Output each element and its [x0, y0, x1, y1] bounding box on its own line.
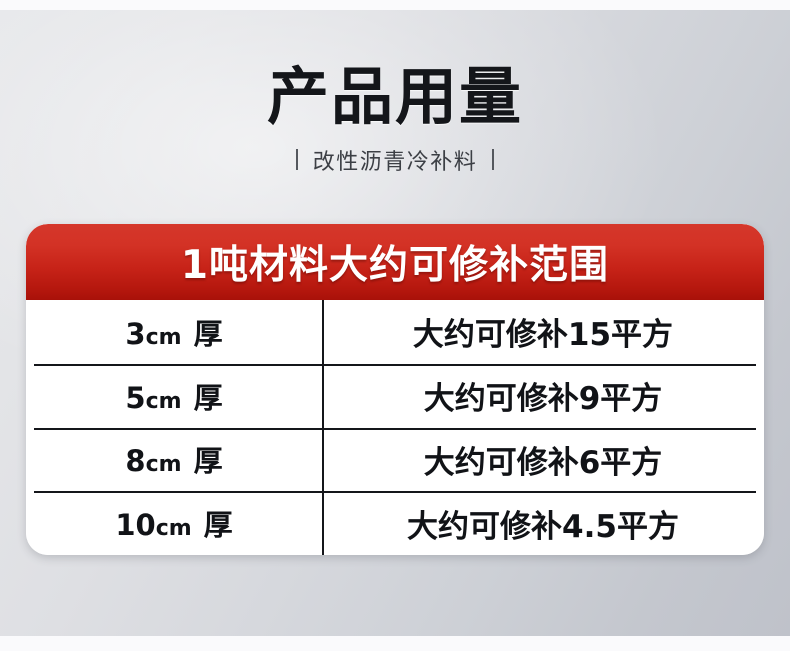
usage-card: 1吨材料大约可修补范围 3cm厚 大约可修补15平方 5cm厚 大约可修补9平方… [26, 224, 764, 555]
subtitle-divider-left-icon [296, 149, 298, 170]
subtitle-divider-right-icon [492, 149, 494, 170]
usage-card-banner-title: 1吨材料大约可修补范围 [181, 234, 609, 290]
table-cell-coverage: 大约可修补4.5平方 [322, 501, 764, 546]
thickness-label: 厚 [194, 381, 223, 415]
thickness-unit: cm [146, 325, 182, 350]
table-cell-thickness: 5cm厚 [26, 375, 322, 417]
table-cell-coverage: 大约可修补15平方 [322, 309, 764, 354]
usage-table: 3cm厚 大约可修补15平方 5cm厚 大约可修补9平方 8cm厚 大约可修补6… [26, 300, 764, 555]
table-cell-coverage: 大约可修补6平方 [322, 437, 764, 482]
subtitle-row: 改性沥青冷补料 [0, 144, 790, 176]
thickness-unit: cm [146, 452, 182, 477]
thickness-value: 8 [125, 444, 145, 478]
table-cell-coverage: 大约可修补9平方 [322, 373, 764, 418]
page-subtitle: 改性沥青冷补料 [313, 144, 478, 176]
table-row: 3cm厚 大约可修补15平方 [26, 300, 764, 364]
table-row: 8cm厚 大约可修补6平方 [26, 428, 764, 492]
thickness-value: 5 [125, 381, 145, 415]
table-column-divider [322, 300, 324, 555]
product-usage-infographic: 产品用量 改性沥青冷补料 1吨材料大约可修补范围 3cm厚 大约可修补15平方 … [0, 0, 790, 651]
usage-card-banner: 1吨材料大约可修补范围 [26, 224, 764, 300]
table-cell-thickness: 3cm厚 [26, 311, 322, 353]
thickness-value: 10 [115, 508, 155, 542]
table-cell-thickness: 8cm厚 [26, 438, 322, 480]
thickness-value: 3 [125, 317, 145, 351]
heading-block: 产品用量 改性沥青冷补料 [0, 64, 790, 176]
page-title: 产品用量 [0, 64, 790, 130]
table-row: 10cm厚 大约可修补4.5平方 [26, 491, 764, 555]
table-cell-thickness: 10cm厚 [26, 502, 322, 544]
thickness-label: 厚 [204, 508, 233, 542]
thickness-label: 厚 [194, 444, 223, 478]
thickness-label: 厚 [194, 317, 223, 351]
table-row: 5cm厚 大约可修补9平方 [26, 364, 764, 428]
thickness-unit: cm [146, 389, 182, 414]
thickness-unit: cm [156, 516, 192, 541]
